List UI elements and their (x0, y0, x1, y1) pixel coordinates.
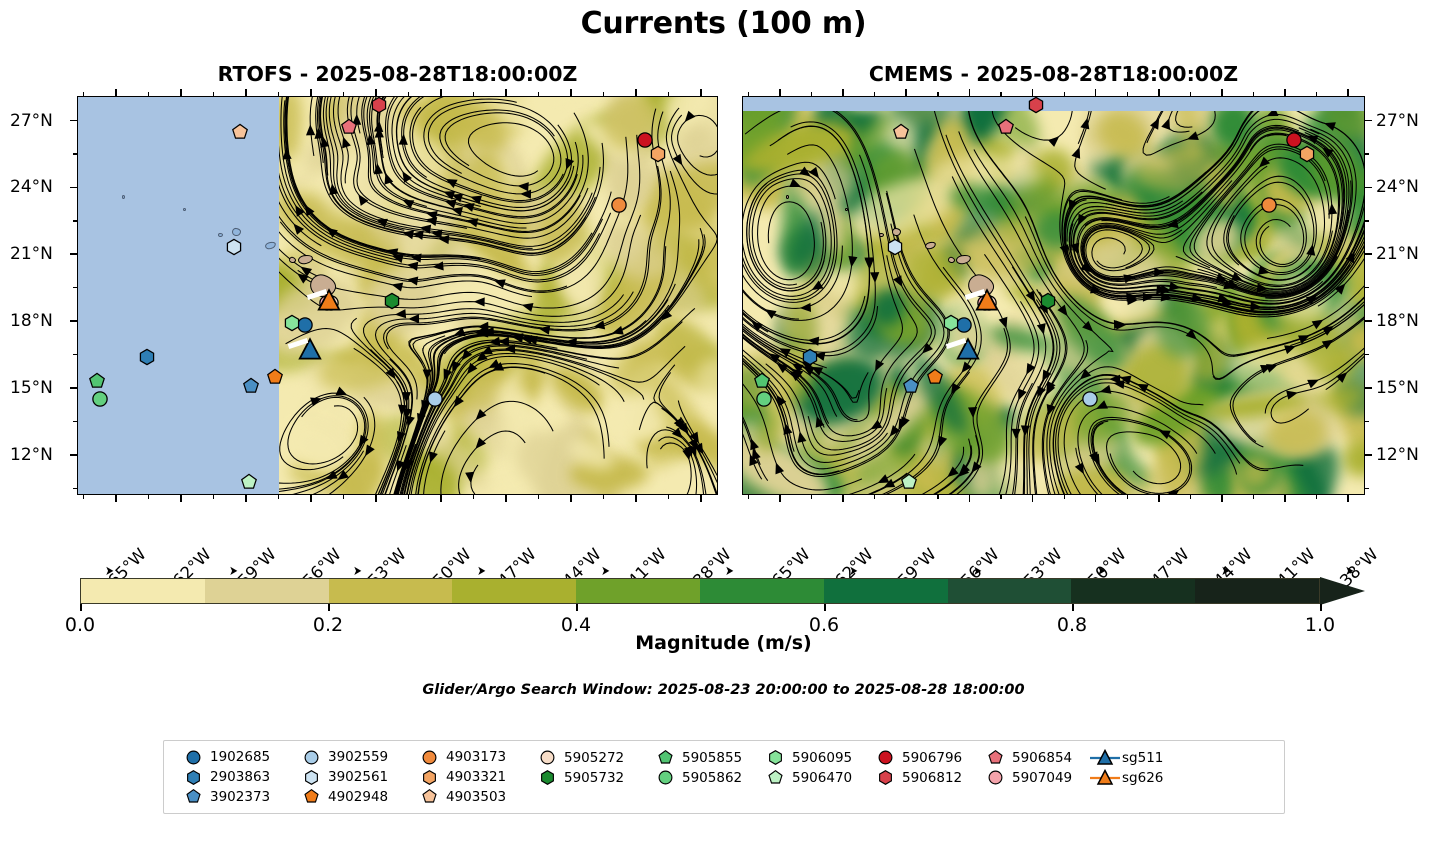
axis-tick (278, 92, 279, 96)
platform-marker-5905732[interactable] (383, 291, 402, 310)
platform-marker-3902373[interactable] (902, 376, 921, 395)
legend-item-4902948[interactable]: 4902948 (294, 787, 412, 806)
legend-item-5906812[interactable]: 5906812 (868, 768, 978, 787)
y-axis-label: 15°N (1376, 378, 1419, 398)
legend-marker-3902561 (294, 769, 328, 786)
axis-tick (570, 92, 571, 96)
legend-marker-5905862 (648, 769, 682, 786)
axis-tick (375, 92, 376, 96)
y-axis-label: 12°N (1376, 445, 1419, 465)
axis-tick (408, 495, 409, 499)
axis-tick (245, 495, 246, 499)
axis-tick (1000, 92, 1001, 96)
axis-tick (473, 495, 474, 499)
legend-column: 390255939025614902948 (294, 748, 412, 806)
axis-tick (1348, 495, 1349, 499)
axis-tick (668, 92, 669, 96)
legend-marker-5905855 (648, 749, 682, 766)
map-panel-rtofs[interactable] (77, 96, 718, 495)
colorbar-tick (824, 604, 826, 611)
axis-tick (73, 354, 77, 355)
legend-item-3902373[interactable]: 3902373 (176, 787, 294, 806)
legend-item-5905862[interactable]: 5905862 (648, 768, 758, 787)
axis-tick (538, 495, 539, 499)
axis-tick (148, 92, 149, 96)
platform-marker-3902373[interactable] (242, 376, 261, 395)
axis-tick (440, 92, 441, 96)
axis-tick (408, 92, 409, 96)
axis-tick (73, 187, 77, 188)
axis-tick (180, 92, 181, 96)
axis-tick (1365, 354, 1369, 355)
axis-tick (73, 287, 77, 288)
axis-tick (148, 495, 149, 499)
axis-tick (1095, 495, 1096, 499)
axis-tick (748, 495, 749, 499)
axis-tick (505, 495, 506, 499)
axis-tick (1095, 92, 1096, 96)
figure-canvas: Currents (100 m) RTOFS - 2025-08-28T18:0… (0, 0, 1447, 863)
axis-tick (1127, 92, 1128, 96)
legend-label-5906796: 5906796 (902, 750, 962, 766)
axis-tick (1190, 92, 1191, 96)
colorbar-segment (824, 579, 948, 603)
platform-marker-5905855[interactable] (752, 372, 771, 391)
axis-tick (473, 92, 474, 96)
axis-tick (779, 92, 780, 96)
legend-item-sg626[interactable]: sg626 (1088, 768, 1184, 787)
platform-marker-5906854[interactable] (339, 118, 358, 137)
legend-column: 490317349033214903503 (412, 748, 530, 806)
axis-tick (969, 92, 970, 96)
platform-marker-4903173[interactable] (610, 196, 629, 215)
axis-tick (811, 92, 812, 96)
axis-tick (180, 495, 181, 499)
axis-tick (1316, 495, 1317, 499)
axis-tick (635, 92, 636, 96)
axis-tick (1365, 388, 1369, 389)
platform-marker-4903173[interactable] (1260, 196, 1279, 215)
panel-title-cmems: CMEMS - 2025-08-28T18:00:00Z (742, 62, 1365, 86)
axis-tick (245, 92, 246, 96)
axis-tick (1365, 287, 1369, 288)
axis-tick (1221, 92, 1222, 96)
legend-label-3902561: 3902561 (328, 769, 388, 785)
colorbar-segment (948, 579, 1072, 603)
axis-tick (874, 92, 875, 96)
axis-tick (1190, 495, 1191, 499)
colorbar-arrow-glyph: ➤ (229, 564, 238, 579)
axis-tick (73, 454, 77, 455)
legend-label-4903173: 4903173 (446, 749, 506, 765)
axis-tick (440, 495, 441, 499)
colorbar-title: Magnitude (m/s) (0, 632, 1447, 654)
platform-marker-5906470[interactable] (900, 472, 919, 491)
platform-marker-5905862[interactable] (90, 390, 109, 409)
colorbar-segment (205, 579, 329, 603)
legend-label-sg511: sg511 (1122, 750, 1163, 766)
page-title: Currents (100 m) (0, 6, 1447, 41)
axis-tick (310, 495, 311, 499)
legend-label-5906854: 5906854 (1012, 750, 1072, 766)
platform-marker-3902561[interactable] (885, 238, 904, 257)
y-axis-label: 12°N (10, 445, 53, 465)
colorbar-arrow-glyph: ➤ (1345, 564, 1354, 579)
platform-marker-4903503[interactable] (231, 122, 250, 141)
axis-tick (1032, 92, 1033, 96)
axis-tick (1158, 92, 1159, 96)
axis-tick (1316, 92, 1317, 96)
platform-marker-3902561[interactable] (224, 238, 243, 257)
platform-marker-5906812[interactable] (370, 96, 389, 114)
axis-tick (213, 495, 214, 499)
platform-marker-5906796[interactable] (1285, 131, 1304, 150)
legend-label-5906095: 5906095 (792, 750, 852, 766)
legend-item-2903863[interactable]: 2903863 (176, 768, 294, 787)
axis-tick (1032, 495, 1033, 499)
axis-tick (779, 495, 780, 499)
y-axis-label: 24°N (1376, 177, 1419, 197)
legend-column: 59060955906470 (758, 748, 868, 806)
axis-tick (505, 92, 506, 96)
axis-tick (1365, 254, 1369, 255)
axis-tick (1365, 187, 1369, 188)
axis-tick (906, 495, 907, 499)
axis-tick (1365, 321, 1369, 322)
legend-marker-5906470 (758, 769, 792, 786)
axis-tick (1285, 92, 1286, 96)
axis-tick (343, 495, 344, 499)
axis-tick (700, 92, 701, 96)
axis-tick (83, 495, 84, 499)
axis-tick (603, 92, 604, 96)
colorbar-arrow-glyph: ➤ (973, 564, 982, 579)
axis-tick (748, 92, 749, 96)
colorbar-segment (576, 579, 700, 603)
colorbar-arrow-glyph: ➤ (725, 564, 734, 579)
legend-label-5906470: 5906470 (792, 770, 852, 786)
platform-marker-5905732[interactable] (1039, 291, 1058, 310)
axis-tick (1365, 421, 1369, 422)
platform-marker-3902559[interactable] (1081, 390, 1100, 409)
legend-column: sg511sg626 (1088, 748, 1184, 806)
platform-marker-5906095[interactable] (283, 314, 302, 333)
y-axis-label: 18°N (10, 311, 53, 331)
legend-marker-4903503 (412, 788, 446, 805)
axis-tick (906, 92, 907, 96)
axis-tick (343, 92, 344, 96)
legend-item-5905732[interactable]: 5905732 (530, 768, 648, 787)
axis-tick (1064, 495, 1065, 499)
colorbar-segment (700, 579, 824, 603)
axis-tick (73, 220, 77, 221)
legend-item-4903503[interactable]: 4903503 (412, 787, 530, 806)
platform-marker-5906812[interactable] (1026, 96, 1045, 114)
legend-label-1902685: 1902685 (210, 749, 270, 765)
axis-tick (603, 495, 604, 499)
colorbar-segment (329, 579, 453, 603)
axis-tick (73, 321, 77, 322)
legend-marker-1902685 (176, 749, 210, 766)
colorbar-segment (81, 579, 205, 603)
colorbar-tick (328, 604, 330, 611)
legend-marker-3902373 (176, 788, 210, 805)
colorbar-tick (80, 604, 82, 611)
legend-label-4903321: 4903321 (446, 769, 506, 785)
axis-tick (937, 92, 938, 96)
axis-tick (1221, 495, 1222, 499)
axis-tick (310, 92, 311, 96)
axis-tick (811, 495, 812, 499)
axis-tick (115, 92, 116, 96)
legend-label-2903863: 2903863 (210, 769, 270, 785)
axis-tick (1064, 92, 1065, 96)
platform-legend[interactable]: 1902685290386339023733902559390256149029… (163, 740, 1285, 814)
axis-tick (1285, 495, 1286, 499)
legend-marker-4903321 (412, 769, 446, 786)
legend-label-5907049: 5907049 (1012, 770, 1072, 786)
platform-marker-4903503[interactable] (891, 122, 910, 141)
colorbar-gradient (80, 578, 1320, 604)
platform-marker-5906796[interactable] (636, 131, 655, 150)
axis-tick (73, 254, 77, 255)
colorbar-segment (1195, 579, 1319, 603)
y-axis-label: 21°N (1376, 244, 1419, 264)
axis-tick (278, 495, 279, 499)
legend-label-5906812: 5906812 (902, 770, 962, 786)
axis-tick (635, 495, 636, 499)
axis-tick (668, 495, 669, 499)
axis-tick (1158, 495, 1159, 499)
axis-tick (843, 92, 844, 96)
axis-tick (1127, 495, 1128, 499)
legend-label-4902948: 4902948 (328, 789, 388, 805)
colorbar-segment (1071, 579, 1195, 603)
axis-tick (73, 488, 77, 489)
legend-marker-sg511 (1088, 749, 1122, 767)
colorbar-tick (1072, 604, 1074, 611)
axis-tick (1000, 495, 1001, 499)
legend-marker-5906854 (978, 749, 1012, 766)
legend-column: 190268529038633902373 (176, 748, 294, 806)
legend-column: 59058555905862 (648, 748, 758, 806)
axis-tick (83, 92, 84, 96)
colorbar-extend-arrow (1320, 577, 1365, 605)
y-axis-label: 18°N (1376, 311, 1419, 331)
axis-tick (73, 421, 77, 422)
axis-tick (213, 92, 214, 96)
legend-item-3902561[interactable]: 3902561 (294, 768, 412, 787)
legend-marker-4902948 (294, 788, 328, 805)
y-axis-label: 27°N (10, 111, 53, 131)
legend-item-5906470[interactable]: 5906470 (758, 768, 868, 787)
colorbar-arrow-glyph: ➤ (849, 564, 858, 579)
platform-marker-2903863[interactable] (138, 347, 157, 366)
platform-marker-3902559[interactable] (426, 390, 445, 409)
legend-label-4903503: 4903503 (446, 789, 506, 805)
platform-marker-5906854[interactable] (997, 118, 1016, 137)
colorbar-segment (452, 579, 576, 603)
axis-tick (1365, 153, 1369, 154)
platform-marker-4902948[interactable] (925, 367, 944, 386)
axis-tick (969, 495, 970, 499)
axis-tick (1365, 488, 1369, 489)
axis-tick (937, 495, 938, 499)
axis-tick (1365, 454, 1369, 455)
legend-label-3902373: 3902373 (210, 789, 270, 805)
map-panel-cmems[interactable] (742, 96, 1365, 495)
colorbar-arrow-glyph: ➤ (1221, 564, 1230, 579)
axis-tick (843, 495, 844, 499)
axis-tick (73, 153, 77, 154)
legend-marker-5905272 (530, 749, 564, 766)
axis-tick (700, 495, 701, 499)
legend-item-5906854[interactable]: 5906854 (978, 748, 1088, 767)
legend-item-5906796[interactable]: 5906796 (868, 748, 978, 767)
y-axis-label: 27°N (1376, 111, 1419, 131)
legend-marker-5906796 (868, 749, 902, 766)
legend-label-sg626: sg626 (1122, 770, 1163, 786)
legend-item-5905272[interactable]: 5905272 (530, 748, 648, 767)
legend-column: 59052725905732 (530, 748, 648, 806)
legend-item-1902685[interactable]: 1902685 (176, 748, 294, 767)
legend-item-5907049[interactable]: 5907049 (978, 768, 1088, 787)
platform-marker-5906470[interactable] (240, 472, 259, 491)
legend-label-5905855: 5905855 (682, 750, 742, 766)
axis-tick (1365, 120, 1369, 121)
legend-item-sg511[interactable]: sg511 (1088, 748, 1184, 767)
y-axis-label: 21°N (10, 244, 53, 264)
axis-tick (1253, 92, 1254, 96)
colorbar-arrow-glyph: ➤ (1097, 564, 1106, 579)
axis-tick (874, 495, 875, 499)
legend-marker-5905732 (530, 769, 564, 786)
legend-marker-5907049 (978, 769, 1012, 786)
legend-column: 59067965906812 (868, 748, 978, 806)
colorbar-arrow-glyph: ➤ (353, 564, 362, 579)
legend-marker-5906812 (868, 769, 902, 786)
legend-item-3902559[interactable]: 3902559 (294, 748, 412, 767)
legend-label-3902559: 3902559 (328, 749, 388, 765)
axis-tick (375, 495, 376, 499)
legend-label-5905272: 5905272 (564, 750, 624, 766)
search-window-text: Glider/Argo Search Window: 2025-08-23 20… (0, 682, 1447, 698)
legend-marker-2903863 (176, 769, 210, 786)
y-axis-label: 15°N (10, 378, 53, 398)
platform-marker-5905855[interactable] (88, 372, 107, 391)
no-data-mask-top (743, 97, 1365, 111)
legend-label-5905862: 5905862 (682, 770, 742, 786)
legend-item-5906095[interactable]: 5906095 (758, 748, 868, 767)
axis-tick (570, 495, 571, 499)
colorbar-arrow-glyph: ➤ (477, 564, 486, 579)
colorbar-arrow-glyph: ➤ (105, 564, 114, 579)
axis-tick (538, 92, 539, 96)
axis-tick (115, 495, 116, 499)
island-polygon (231, 227, 241, 236)
colorbar-tick (1320, 604, 1322, 611)
legend-label-5905732: 5905732 (564, 770, 624, 786)
legend-item-4903321[interactable]: 4903321 (412, 768, 530, 787)
panel-title-rtofs: RTOFS - 2025-08-28T18:00:00Z (77, 62, 718, 86)
platform-marker-5906095[interactable] (942, 314, 961, 333)
legend-marker-sg626 (1088, 769, 1122, 787)
platform-marker-4902948[interactable] (266, 367, 285, 386)
axis-tick (73, 120, 77, 121)
platform-marker-5905862[interactable] (755, 390, 774, 409)
axis-tick (73, 388, 77, 389)
colorbar-arrow-glyph: ➤ (601, 564, 610, 579)
axis-tick (1348, 92, 1349, 96)
colorbar-tick (576, 604, 578, 611)
legend-item-4903173[interactable]: 4903173 (412, 748, 530, 767)
axis-tick (1253, 495, 1254, 499)
legend-marker-3902559 (294, 749, 328, 766)
y-axis-label: 24°N (10, 177, 53, 197)
legend-item-5905855[interactable]: 5905855 (648, 748, 758, 767)
no-data-mask (78, 97, 279, 495)
legend-column: 59068545907049 (978, 748, 1088, 806)
axis-tick (1365, 220, 1369, 221)
platform-marker-2903863[interactable] (801, 347, 820, 366)
colorbar[interactable]: 0.00.20.40.60.81.0➤➤➤➤➤➤➤➤➤➤➤ (80, 578, 1365, 604)
legend-marker-5906095 (758, 749, 792, 766)
legend-marker-4903173 (412, 749, 446, 766)
